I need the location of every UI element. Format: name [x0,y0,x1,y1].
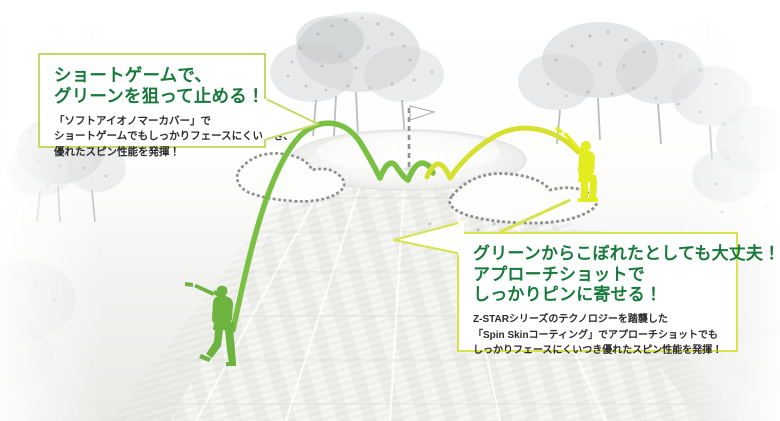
headline-line-1: グリーンからこぼれたとしても大丈夫！ [473,244,722,265]
body-line-3: 優れたスピン性能を発揮！ [54,145,250,161]
callout-short-game-body: 「ソフトアイオノマーカバー」で ショートゲームでもしっかりフェースにくいつき、 … [54,114,250,161]
callout-short-game-headline: ショートゲームで、 グリーンを狙って止める！ [54,65,250,108]
body-line-2: 「Spin Skinコーティング」でアプローチショットでも [473,328,722,344]
callout-approach-shot: グリーンからこぼれたとしても大丈夫！ アプローチショットで しっかりピンに寄せる… [457,232,738,352]
infographic-canvas: ショートゲームで、 グリーンを狙って止める！ 「ソフトアイオノマーカバー」で シ… [0,0,780,421]
headline-line-3: しっかりピンに寄せる！ [473,285,722,306]
body-line-1: 「ソフトアイオノマーカバー」で [54,114,250,130]
headline-line-2: グリーンを狙って止める！ [54,86,250,107]
callout-approach-shot-headline: グリーンからこぼれたとしても大丈夫！ アプローチショットで しっかりピンに寄せる… [473,244,722,306]
headline-line-2: アプローチショットで [473,265,722,286]
callout-approach-shot-body: Z-STARシリーズのテクノロジーを踏襲した 「Spin Skinコーティング」… [473,312,722,359]
callout-short-game: ショートゲームで、 グリーンを狙って止める！ 「ソフトアイオノマーカバー」で シ… [38,53,266,148]
body-line-2: ショートゲームでもしっかりフェースにくいつき、 [54,129,250,145]
body-line-3: しっかりフェースにくいつき優れたスピン性能を発揮！ [473,343,722,359]
headline-line-1: ショートゲームで、 [54,65,250,86]
body-line-1: Z-STARシリーズのテクノロジーを踏襲した [473,312,722,328]
